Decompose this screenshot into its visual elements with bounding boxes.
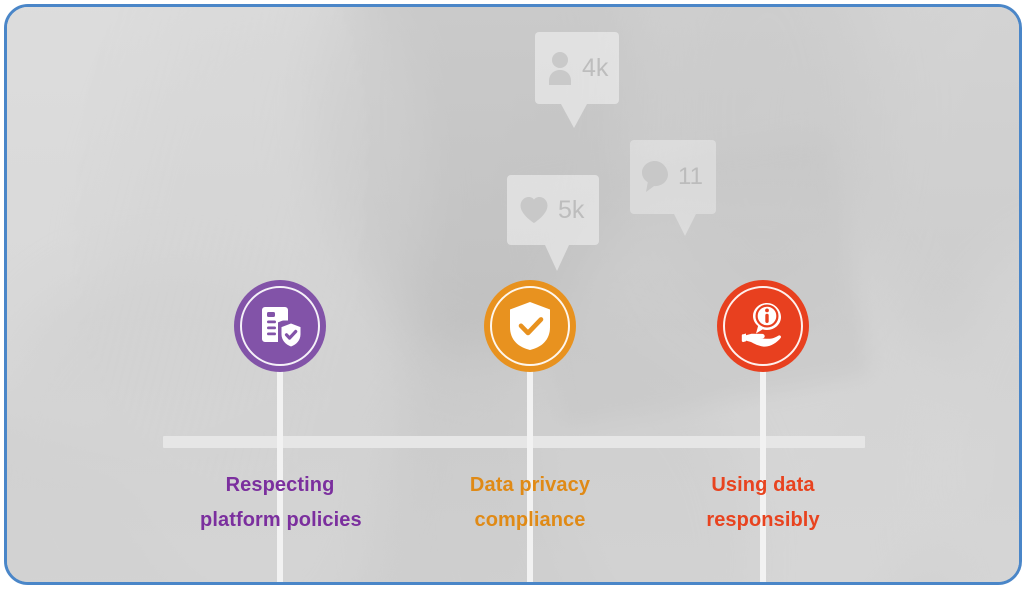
bordered-card: 4k 5k 11: [4, 4, 1022, 585]
badge-count: 4k: [582, 54, 608, 83]
pin-caption: Using data responsibly: [683, 468, 843, 538]
caption-line-1: Using data: [711, 474, 814, 496]
comment-icon: [640, 160, 670, 194]
pin-circle[interactable]: [717, 280, 809, 372]
caption-line-2: platform policies: [200, 503, 360, 538]
slide-canvas: 4k 5k 11: [0, 0, 1026, 589]
pin-caption: Data privacy compliance: [450, 468, 610, 538]
pin-privacy[interactable]: Data privacy compliance: [450, 280, 610, 372]
pin-circle[interactable]: [234, 280, 326, 372]
person-icon: [547, 51, 573, 85]
shield-check-icon: [506, 300, 554, 352]
document-shield-check-icon: [255, 301, 305, 351]
caption-line-2: compliance: [450, 503, 610, 538]
badge-comments: 11: [630, 140, 716, 214]
badge-likes: 5k: [507, 175, 599, 245]
pin-policies[interactable]: Respecting platform policies: [200, 280, 360, 372]
caption-line-1: Respecting: [226, 474, 335, 496]
heart-icon: [519, 196, 549, 224]
badge-followers: 4k: [535, 32, 619, 104]
pin-responsibly[interactable]: Using data responsibly: [683, 280, 843, 372]
pin-caption: Respecting platform policies: [200, 468, 360, 538]
hand-info-icon: [737, 300, 789, 352]
badge-count: 5k: [558, 196, 584, 225]
badge-count: 11: [678, 163, 703, 191]
pin-circle[interactable]: [484, 280, 576, 372]
caption-line-2: responsibly: [683, 503, 843, 538]
caption-line-1: Data privacy: [470, 474, 590, 496]
